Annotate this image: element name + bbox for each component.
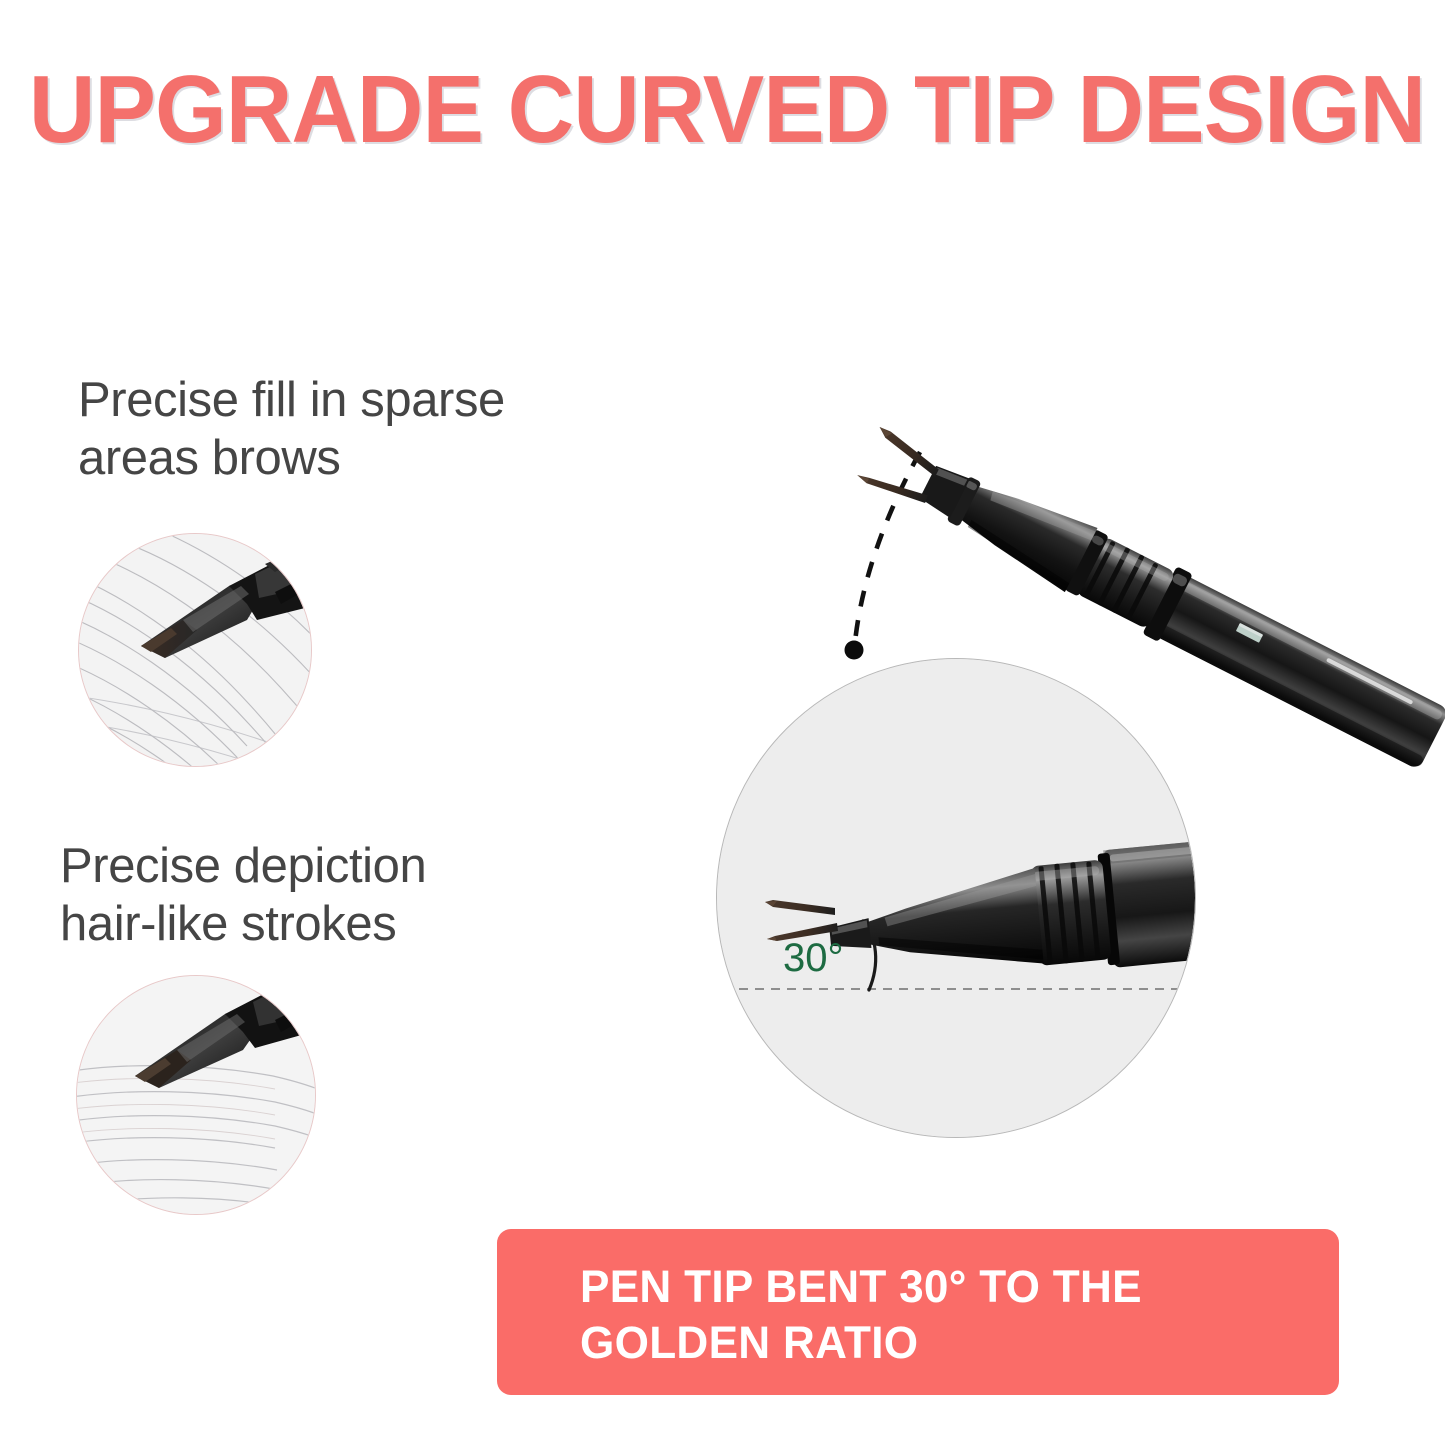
bottom-callout-banner: PEN TIP BENT 30° TO THE GOLDEN RATIO [497,1229,1339,1395]
magnified-tip-view [716,658,1196,1138]
feature-label-precise-depiction: Precise depiction hair-like strokes [60,838,680,954]
hair-strokes-closeup-icon [76,975,316,1215]
angle-label: 30° [783,936,844,981]
banner-text: PEN TIP BENT 30° TO THE GOLDEN RATIO [580,1259,1324,1371]
infographic-page: UPGRADE CURVED TIP DESIGN Precise fill i… [0,0,1445,1445]
page-title: UPGRADE CURVED TIP DESIGN [29,60,1416,161]
leader-line-connector [800,430,980,680]
brow-hairs-closeup-icon [78,533,312,767]
feature-label-precise-fill: Precise fill in sparse areas brows [78,372,698,488]
